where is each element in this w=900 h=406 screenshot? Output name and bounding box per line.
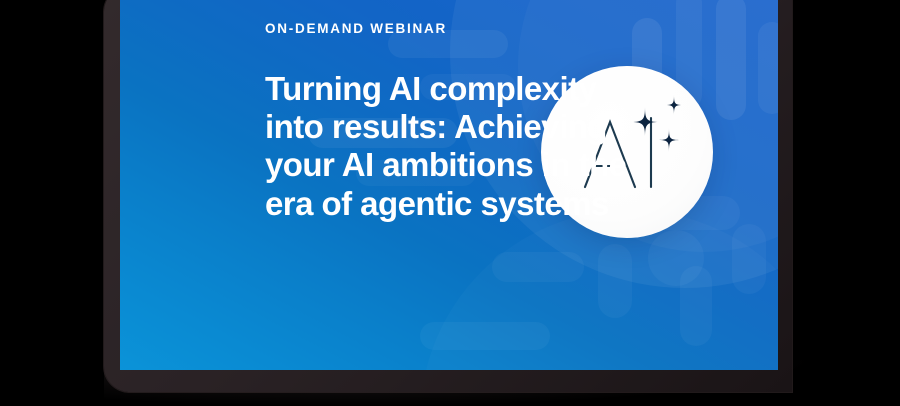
headline-line-4: era of agentic systems [265, 185, 665, 223]
promo-screen: ON-DEMAND WEBINAR Turning AI complexity … [120, 0, 778, 370]
headline-line-3: your AI ambitions in the [265, 146, 665, 184]
promo-copy: ON-DEMAND WEBINAR Turning AI complexity … [265, 22, 665, 223]
eyebrow-label: ON-DEMAND WEBINAR [265, 22, 665, 36]
headline-line-1: Turning AI complexity [265, 70, 665, 108]
headline-line-2: into results: Achieving [265, 108, 665, 146]
sparkle-icon-small [664, 95, 684, 115]
page-title: Turning AI complexity into results: Achi… [265, 70, 665, 224]
